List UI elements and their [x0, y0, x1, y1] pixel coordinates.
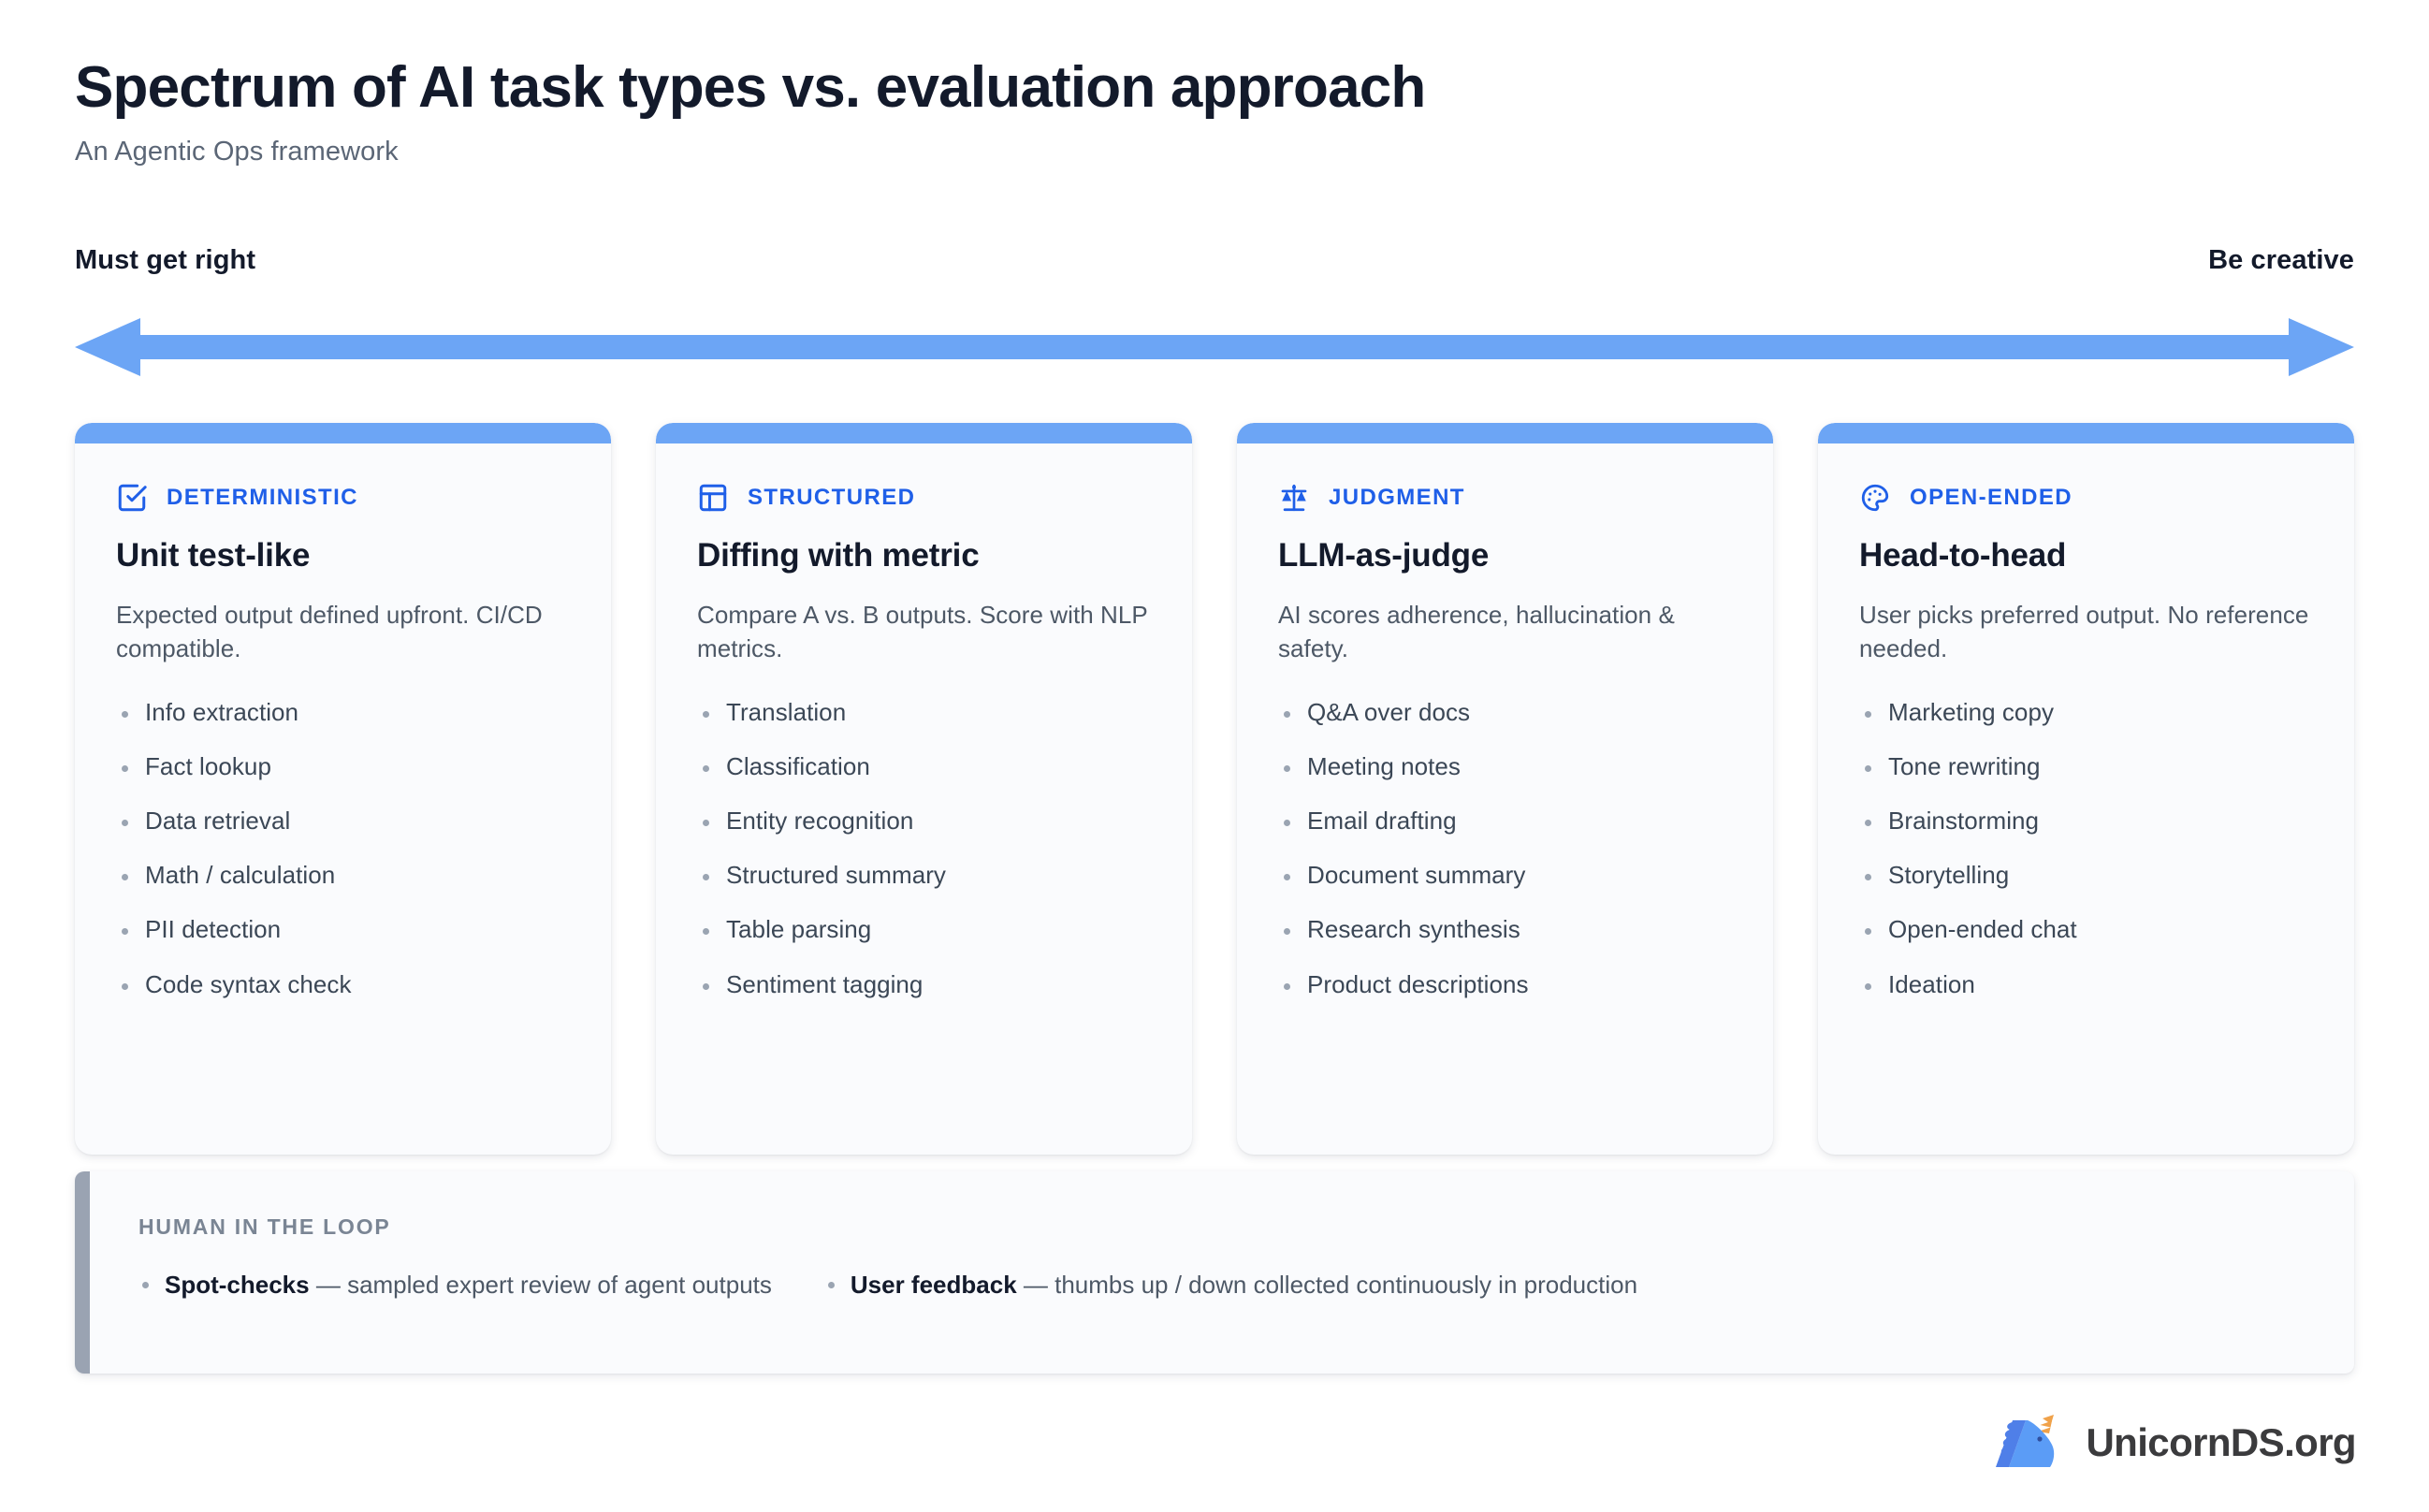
- card-kicker: OPEN-ENDED: [1859, 479, 2313, 516]
- card-description: AI scores adherence, hallucination & saf…: [1278, 599, 1732, 666]
- scales-balance-icon: [1278, 482, 1310, 514]
- item-dash: —: [1017, 1271, 1055, 1299]
- list-item: Brainstorming: [1859, 807, 2313, 836]
- card-kicker: DETERMINISTIC: [116, 479, 570, 516]
- page-title: Spectrum of AI task types vs. evaluation…: [75, 58, 1426, 118]
- list-item: Data retrieval: [116, 807, 570, 836]
- header: Spectrum of AI task types vs. evaluation…: [75, 58, 1426, 167]
- list-item: Email drafting: [1278, 807, 1732, 836]
- item-detail: thumbs up / down collected continuously …: [1055, 1271, 1637, 1299]
- card-topbar: [1237, 423, 1773, 443]
- list-item: Classification: [697, 752, 1151, 781]
- list-item: Storytelling: [1859, 861, 2313, 890]
- spectrum-right-label: Be creative: [2208, 245, 2354, 276]
- card-judgment[interactable]: JUDGMENT LLM-as-judge AI scores adherenc…: [1237, 423, 1773, 1155]
- card-kicker-label: STRUCTURED: [748, 485, 915, 511]
- list-item: PII detection: [116, 915, 570, 944]
- card-description: Expected output defined upfront. CI/CD c…: [116, 599, 570, 666]
- card-title: Head-to-head: [1859, 537, 2313, 574]
- list-item: Open-ended chat: [1859, 915, 2313, 944]
- card-item-list: Q&A over docs Meeting notes Email drafti…: [1278, 698, 1732, 999]
- item-term: Spot-checks: [165, 1271, 310, 1299]
- card-topbar: [656, 423, 1192, 443]
- list-item: Ideation: [1859, 970, 2313, 999]
- list-item: User feedback — thumbs up / down collect…: [824, 1270, 1637, 1301]
- card-title: LLM-as-judge: [1278, 537, 1732, 574]
- card-item-list: Marketing copy Tone rewriting Brainstorm…: [1859, 698, 2313, 999]
- list-item: Research synthesis: [1278, 915, 1732, 944]
- card-title: Unit test-like: [116, 537, 570, 574]
- card-topbar: [75, 423, 611, 443]
- list-item: Spot-checks — sampled expert review of a…: [138, 1270, 772, 1301]
- spectrum-labels: Must get right Be creative: [75, 245, 2354, 276]
- list-item: Table parsing: [697, 915, 1151, 944]
- list-item: Sentiment tagging: [697, 970, 1151, 999]
- task-type-cards: DETERMINISTIC Unit test-like Expected ou…: [75, 423, 2354, 1155]
- panel-kicker: HUMAN IN THE LOOP: [138, 1214, 2305, 1240]
- item-detail: sampled expert review of agent outputs: [347, 1271, 772, 1299]
- list-item: Tone rewriting: [1859, 752, 2313, 781]
- card-kicker: JUDGMENT: [1278, 479, 1732, 516]
- infographic-page: Spectrum of AI task types vs. evaluation…: [0, 0, 2429, 1512]
- panel-item-list: Spot-checks — sampled expert review of a…: [138, 1270, 2305, 1301]
- list-item: Structured summary: [697, 861, 1151, 890]
- list-item: Entity recognition: [697, 807, 1151, 836]
- page-subtitle: An Agentic Ops framework: [75, 137, 1426, 167]
- human-in-the-loop-panel: HUMAN IN THE LOOP Spot-checks — sampled …: [75, 1171, 2354, 1374]
- checkbox-check-icon: [116, 482, 148, 514]
- card-topbar: [1818, 423, 2354, 443]
- palette-icon: [1859, 482, 1891, 514]
- card-kicker-label: OPEN-ENDED: [1910, 485, 2073, 511]
- card-deterministic[interactable]: DETERMINISTIC Unit test-like Expected ou…: [75, 423, 611, 1155]
- card-item-list: Info extraction Fact lookup Data retriev…: [116, 698, 570, 999]
- list-item: Marketing copy: [1859, 698, 2313, 727]
- list-item: Info extraction: [116, 698, 570, 727]
- card-title: Diffing with metric: [697, 537, 1151, 574]
- unicorn-logo-icon: [1986, 1413, 2073, 1473]
- card-open-ended[interactable]: OPEN-ENDED Head-to-head User picks prefe…: [1818, 423, 2354, 1155]
- list-item: Product descriptions: [1278, 970, 1732, 999]
- card-kicker-label: JUDGMENT: [1329, 485, 1465, 511]
- table-layout-icon: [697, 482, 729, 514]
- list-item: Fact lookup: [116, 752, 570, 781]
- panel-accent-bar: [75, 1171, 90, 1374]
- card-item-list: Translation Classification Entity recogn…: [697, 698, 1151, 999]
- card-kicker: STRUCTURED: [697, 479, 1151, 516]
- list-item: Code syntax check: [116, 970, 570, 999]
- item-term: User feedback: [851, 1271, 1017, 1299]
- spectrum-arrow: [75, 316, 2354, 378]
- card-structured[interactable]: STRUCTURED Diffing with metric Compare A…: [656, 423, 1192, 1155]
- item-dash: —: [310, 1271, 347, 1299]
- list-item: Meeting notes: [1278, 752, 1732, 781]
- brand-logo[interactable]: UnicornDS.org: [1986, 1413, 2356, 1473]
- list-item: Document summary: [1278, 861, 1732, 890]
- card-kicker-label: DETERMINISTIC: [167, 485, 358, 511]
- card-description: User picks preferred output. No referenc…: [1859, 599, 2313, 666]
- list-item: Q&A over docs: [1278, 698, 1732, 727]
- list-item: Translation: [697, 698, 1151, 727]
- card-description: Compare A vs. B outputs. Score with NLP …: [697, 599, 1151, 666]
- brand-name: UnicornDS.org: [2086, 1420, 2356, 1465]
- list-item: Math / calculation: [116, 861, 570, 890]
- spectrum-left-label: Must get right: [75, 245, 255, 276]
